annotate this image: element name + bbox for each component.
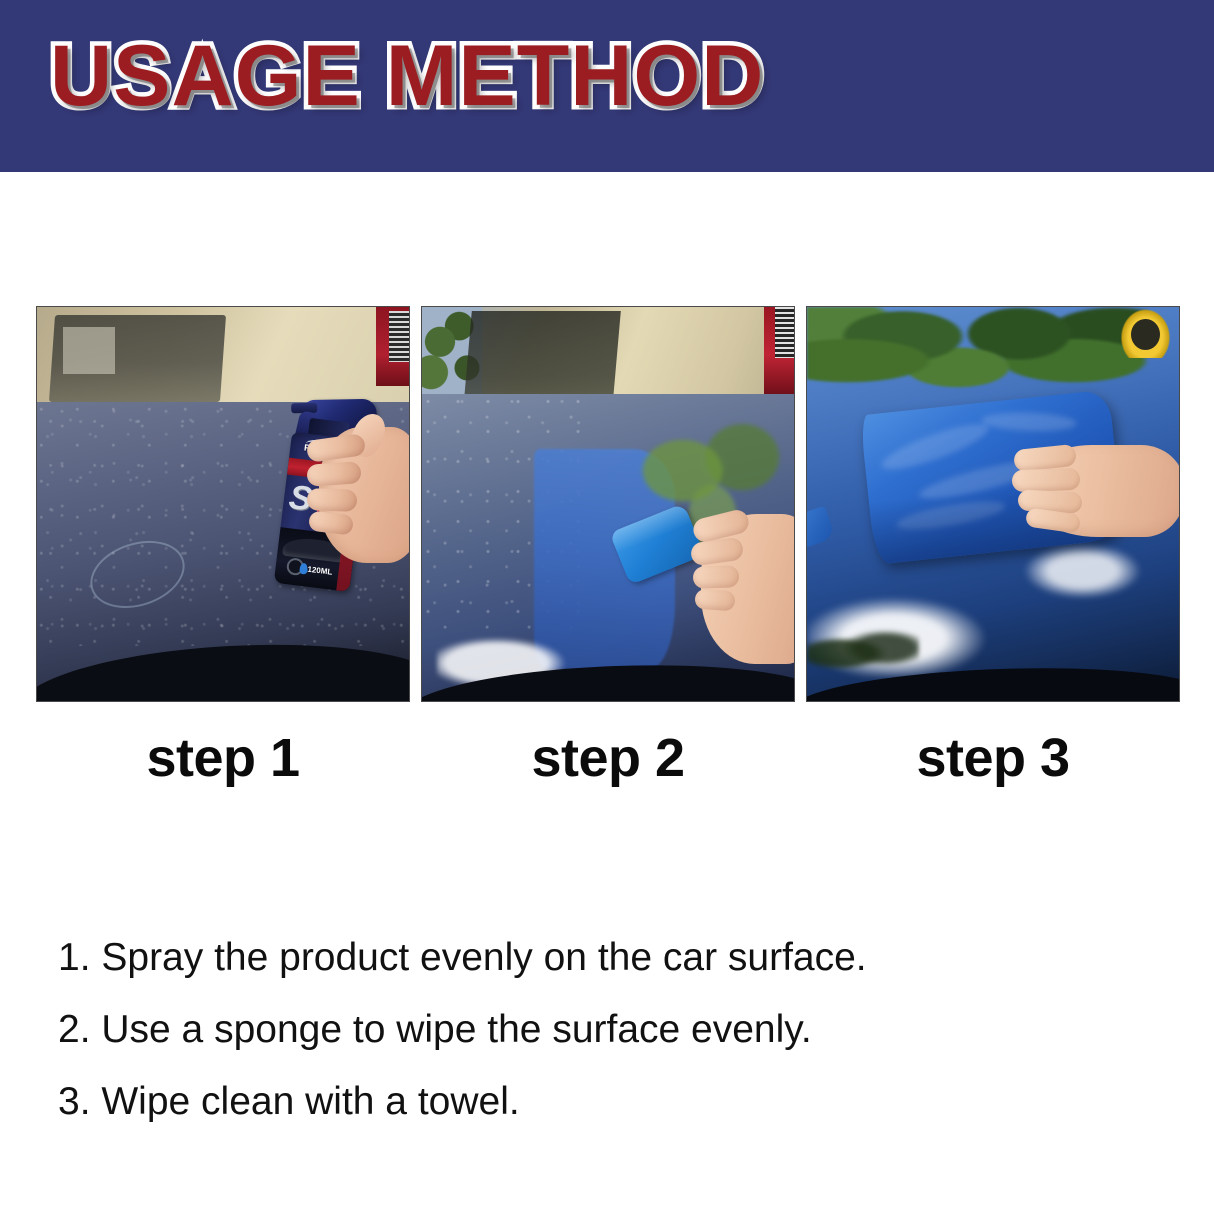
step-1-caption: step 1	[36, 726, 410, 790]
finger	[308, 511, 354, 536]
sponge-photo	[422, 307, 794, 701]
instruction-item-3: 3. Wipe clean with a towel.	[58, 1066, 1098, 1138]
usage-method-infographic: USAGE METHOD	[0, 0, 1214, 1214]
grille-icon	[775, 307, 794, 358]
instruction-item-2: 2. Use a sponge to wipe the surface even…	[58, 994, 1098, 1066]
finger	[693, 565, 740, 589]
tree-reflection-bottom	[807, 626, 919, 681]
spray-photo: RAYHONG S PRO COATING POLISH SPRAY NANO …	[37, 307, 409, 701]
header-band: USAGE METHOD	[0, 0, 1214, 172]
finger	[1011, 468, 1080, 492]
step-3-caption: step 3	[806, 726, 1180, 790]
page-title: USAGE METHOD	[50, 28, 764, 124]
step-photos-row: RAYHONG S PRO COATING POLISH SPRAY NANO …	[36, 306, 1180, 702]
step-2-photo	[421, 306, 795, 702]
step-3-photo	[806, 306, 1180, 702]
finger	[307, 489, 358, 513]
grille-icon	[389, 311, 409, 362]
instruction-list: 1. Spray the product evenly on the car s…	[58, 922, 1098, 1138]
hand-on-towel	[992, 425, 1172, 555]
window-reflection	[63, 327, 115, 374]
instruction-item-1: 1. Spray the product evenly on the car s…	[58, 922, 1098, 994]
towel-fold	[877, 416, 991, 477]
step-captions-row: step 1 step 2 step 3	[36, 726, 1180, 790]
hand-holding-sponge	[671, 504, 794, 679]
step-2-caption: step 2	[421, 726, 795, 790]
step-1-photo: RAYHONG S PRO COATING POLISH SPRAY NANO …	[36, 306, 410, 702]
hand-holding-bottle	[297, 409, 409, 579]
finger	[695, 589, 736, 612]
towel-photo	[807, 307, 1179, 701]
